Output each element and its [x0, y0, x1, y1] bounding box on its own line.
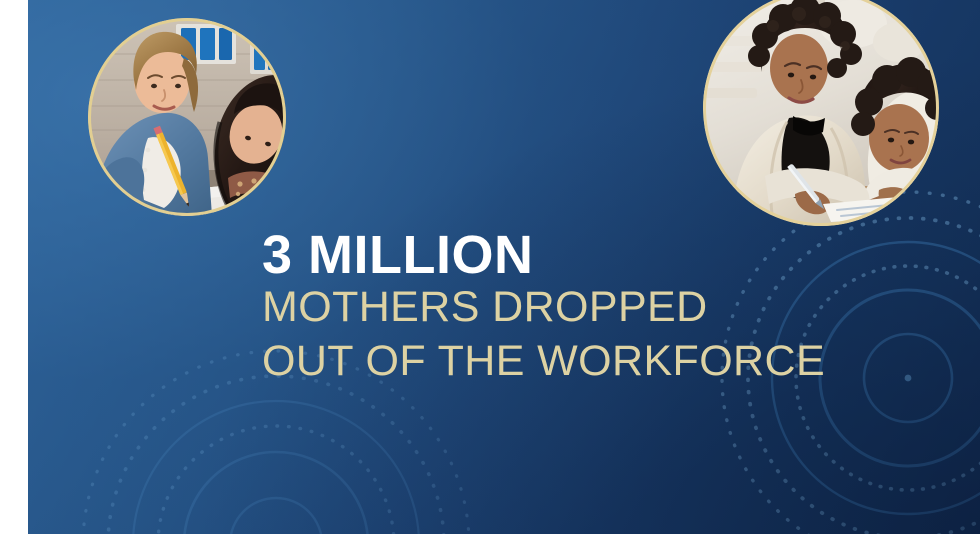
slide-frame: 3 MILLION MOTHERS DROPPED OUT OF THE WOR… — [0, 0, 980, 542]
headline-secondary-line-2: OUT OF THE WORKFORCE — [262, 337, 882, 387]
slide-canvas: 3 MILLION MOTHERS DROPPED OUT OF THE WOR… — [28, 0, 980, 534]
photo-left-image — [88, 18, 286, 216]
photo-right-image — [703, 0, 939, 226]
photo-mother-and-daughter-homework — [703, 0, 939, 226]
photo-mother-and-daughter-studying — [88, 18, 286, 216]
headline-secondary-line-1: MOTHERS DROPPED — [262, 283, 882, 333]
headline-block: 3 MILLION MOTHERS DROPPED OUT OF THE WOR… — [262, 228, 882, 387]
headline-primary-statistic: 3 MILLION — [262, 228, 882, 283]
